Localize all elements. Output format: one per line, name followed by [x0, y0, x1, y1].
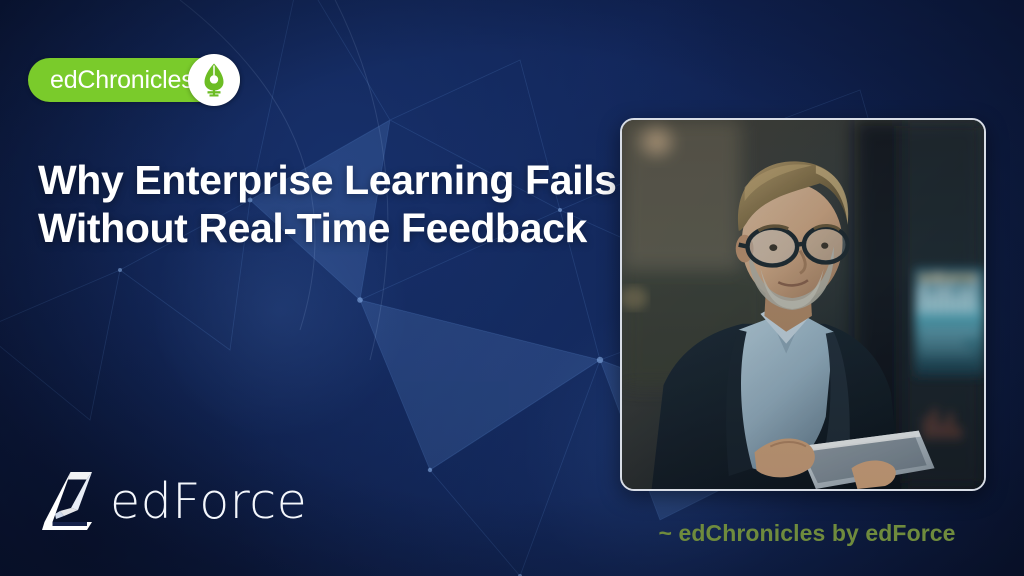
badge-icon-circle: [188, 54, 240, 106]
badge-label: edChronicles: [50, 68, 194, 93]
page-title: Why Enterprise Learning Fails Without Re…: [38, 156, 618, 252]
edforce-logo: edForce: [40, 470, 307, 532]
footer-caption: ~ edChronicles by edForce: [628, 522, 986, 545]
edchronicles-badge: edChronicles: [28, 52, 240, 108]
edforce-mark-icon: [40, 470, 96, 532]
hero-photo: [620, 118, 986, 491]
edforce-wordmark: edForce: [110, 477, 307, 526]
photo-illustration: [622, 120, 984, 489]
pen-nib-icon: [199, 63, 229, 97]
slide-canvas: edChronicles Why Enterprise Learning Fai…: [0, 0, 1024, 576]
